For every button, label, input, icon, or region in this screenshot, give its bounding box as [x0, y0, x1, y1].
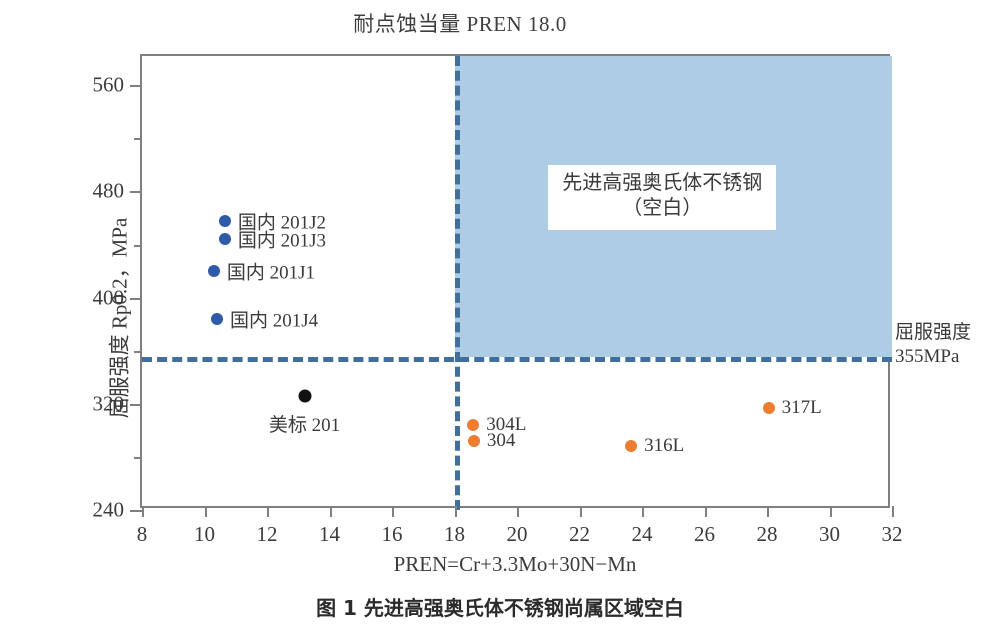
data-point-label-国内-201J3: 国内 201J3 — [238, 226, 326, 253]
y-axis-title: 屈服强度 Rp0.2，MPa — [103, 218, 133, 419]
y-tick-320 — [130, 404, 142, 406]
data-point-国内-201J1[interactable] — [208, 265, 220, 277]
x-tick-label-8: 8 — [137, 522, 148, 547]
y-tick-label-560: 560 — [93, 73, 125, 98]
chart-title: 耐点蚀当量 PREN 18.0 — [0, 8, 920, 38]
data-point-label-304: 304 — [487, 430, 516, 452]
data-point-label-国内-201J1: 国内 201J1 — [227, 258, 315, 285]
x-tick-label-32: 32 — [882, 522, 903, 547]
x-tick-22 — [580, 506, 582, 517]
x-tick-20 — [517, 506, 519, 517]
data-point-label-美标-201: 美标 201 — [269, 410, 340, 437]
x-tick-label-28: 28 — [757, 522, 778, 547]
x-tick-14 — [330, 506, 332, 517]
x-tick-label-24: 24 — [632, 522, 653, 547]
x-tick-12 — [267, 506, 269, 517]
data-point-label-317L: 317L — [782, 397, 822, 419]
y-tick-480 — [130, 191, 142, 193]
x-tick-label-30: 30 — [819, 522, 840, 547]
x-tick-18 — [455, 506, 457, 517]
data-point-label-316L: 316L — [644, 435, 684, 457]
y-tick-label-480: 480 — [93, 179, 125, 204]
x-tick-label-14: 14 — [319, 522, 340, 547]
x-tick-10 — [205, 506, 207, 517]
data-point-304L[interactable] — [467, 419, 479, 431]
data-point-国内-201J2[interactable] — [219, 215, 231, 227]
x-tick-26 — [705, 506, 707, 517]
region-callout-line2: （空白） — [562, 196, 762, 222]
data-point-label-国内-201J4: 国内 201J4 — [230, 305, 318, 332]
x-tick-28 — [767, 506, 769, 517]
data-point-国内-201J4[interactable] — [211, 313, 223, 325]
y-tick-400 — [130, 298, 142, 300]
x-tick-label-12: 12 — [257, 522, 278, 547]
x-axis-title: PREN=Cr+3.3Mo+30N−Mn — [140, 552, 890, 577]
plot-area: 240320400480560 810121416182022242628303… — [140, 54, 890, 508]
data-point-美标-201[interactable] — [298, 389, 311, 402]
y-tick-label-320: 320 — [93, 391, 125, 416]
pren-threshold-line — [455, 56, 460, 510]
data-point-国内-201J3[interactable] — [219, 233, 231, 245]
x-tick-label-26: 26 — [694, 522, 715, 547]
yield-threshold-line — [142, 357, 892, 362]
yield-strength-note: 屈服强度 355MPa — [895, 321, 971, 367]
x-tick-label-22: 22 — [569, 522, 590, 547]
x-tick-32 — [892, 506, 894, 517]
y-tick-label-240: 240 — [93, 498, 125, 523]
y-minor-tick-440 — [134, 245, 142, 247]
x-tick-label-10: 10 — [194, 522, 215, 547]
x-tick-16 — [392, 506, 394, 517]
region-callout-box: 先进高强奥氏体不锈钢 （空白） — [548, 165, 776, 230]
x-tick-label-18: 18 — [444, 522, 465, 547]
yield-note-line1: 屈服强度 — [895, 321, 971, 344]
x-tick-24 — [642, 506, 644, 517]
data-point-304[interactable] — [468, 435, 480, 447]
y-tick-560 — [130, 85, 142, 87]
x-tick-label-16: 16 — [382, 522, 403, 547]
x-tick-label-20: 20 — [507, 522, 528, 547]
x-tick-8 — [142, 506, 144, 517]
x-tick-30 — [830, 506, 832, 517]
data-point-316L[interactable] — [625, 440, 637, 452]
yield-note-line2: 355MPa — [895, 345, 971, 368]
figure-caption: 图 1 先进高强奥氏体不锈钢尚属区域空白 — [0, 592, 1000, 621]
y-minor-tick-280 — [134, 457, 142, 459]
y-tick-240 — [130, 510, 142, 512]
region-callout-line1: 先进高强奥氏体不锈钢 — [562, 171, 762, 197]
figure-container: 耐点蚀当量 PREN 18.0 屈服强度 Rp0.2，MPa PREN=Cr+3… — [0, 0, 1000, 636]
y-minor-tick-520 — [134, 138, 142, 140]
y-minor-tick-360 — [134, 351, 142, 353]
y-tick-label-400: 400 — [93, 285, 125, 310]
data-point-317L[interactable] — [763, 402, 775, 414]
